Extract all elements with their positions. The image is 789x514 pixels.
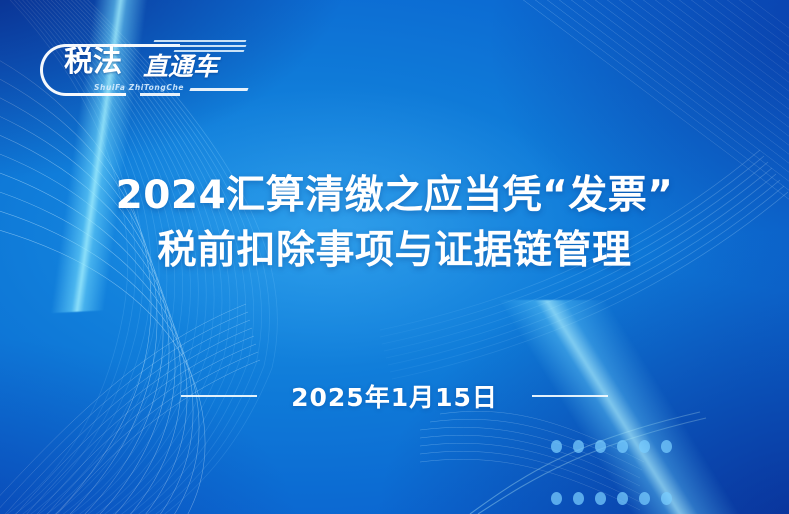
date-rule-right	[532, 395, 608, 397]
date-text: 2025年1月15日	[291, 378, 498, 414]
dot	[573, 492, 584, 505]
dot	[595, 440, 606, 453]
dot	[551, 492, 562, 505]
logo-sub-text: 直通车	[143, 52, 218, 82]
dot	[617, 492, 628, 505]
decorative-dot-grid	[551, 440, 683, 514]
dot	[661, 492, 672, 505]
date-rule-left	[181, 395, 257, 397]
logo-underline-accent	[189, 88, 248, 91]
title-line-2: 税前扣除事项与证据链管理	[0, 223, 789, 278]
presentation-title-slide: 税法 直通车 ShuiFa ZhiTongChe 2024汇算清缴之应当凭“发票…	[0, 0, 789, 514]
dot	[573, 440, 584, 453]
logo-main-text: 税法	[64, 44, 122, 78]
logo-pinyin-text: ShuiFa ZhiTongChe	[94, 83, 184, 92]
dot	[551, 440, 562, 453]
dot	[617, 440, 628, 453]
title-line-1: 2024汇算清缴之应当凭“发票”	[0, 168, 789, 223]
slide-title: 2024汇算清缴之应当凭“发票” 税前扣除事项与证据链管理	[0, 168, 789, 278]
dot	[661, 440, 672, 453]
slide-date: 2025年1月15日	[0, 378, 789, 414]
dot	[595, 492, 606, 505]
shuifa-zhitongche-logo: 税法 直通车 ShuiFa ZhiTongChe	[40, 42, 250, 100]
dot	[639, 492, 650, 505]
dot	[639, 440, 650, 453]
